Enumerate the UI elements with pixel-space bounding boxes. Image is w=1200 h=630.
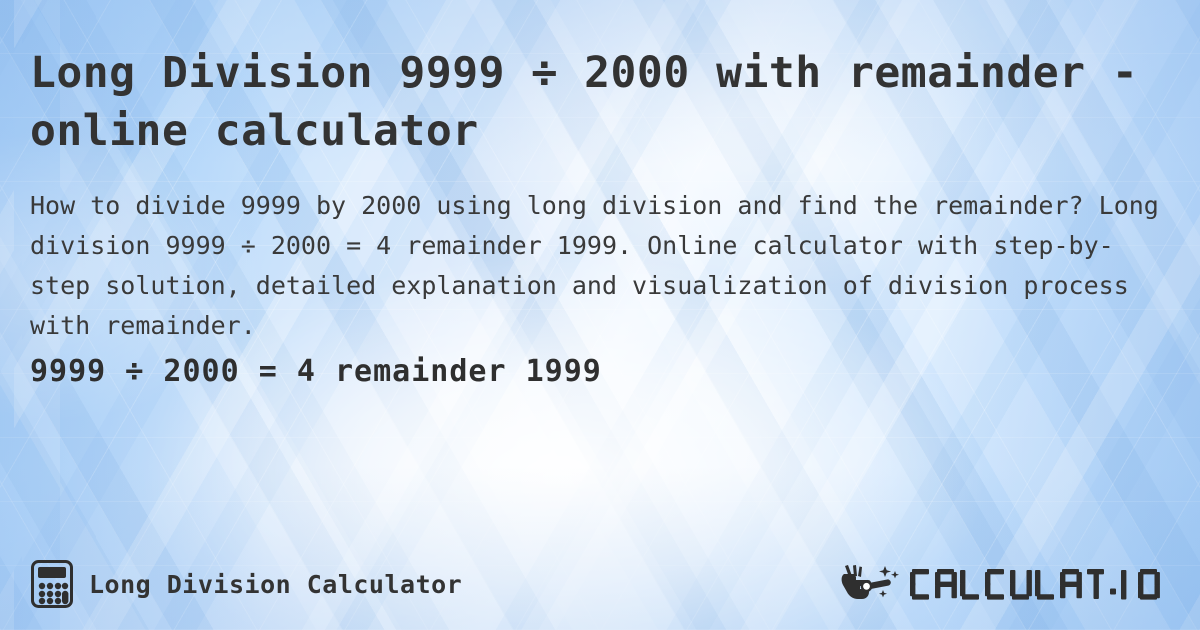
card-content: Long Division 9999 ÷ 2000 with remainder… (0, 0, 1200, 630)
division-result: 9999 ÷ 2000 = 4 remainder 1999 (30, 352, 602, 392)
og-image-card: Long Division 9999 ÷ 2000 with remainder… (0, 0, 1200, 630)
page-description: How to divide 9999 by 2000 using long di… (30, 186, 1165, 346)
footer-brand: Long Division Calculator (31, 560, 462, 608)
hand-magic-wand-icon (838, 562, 904, 606)
site-logo[interactable] (838, 562, 1178, 606)
site-logo-text (908, 565, 1178, 603)
calculator-icon (31, 560, 73, 608)
page-title: Long Division 9999 ÷ 2000 with remainder… (30, 44, 1175, 160)
footer-brand-label: Long Division Calculator (89, 570, 462, 599)
card-footer: Long Division Calculator (0, 530, 1200, 630)
